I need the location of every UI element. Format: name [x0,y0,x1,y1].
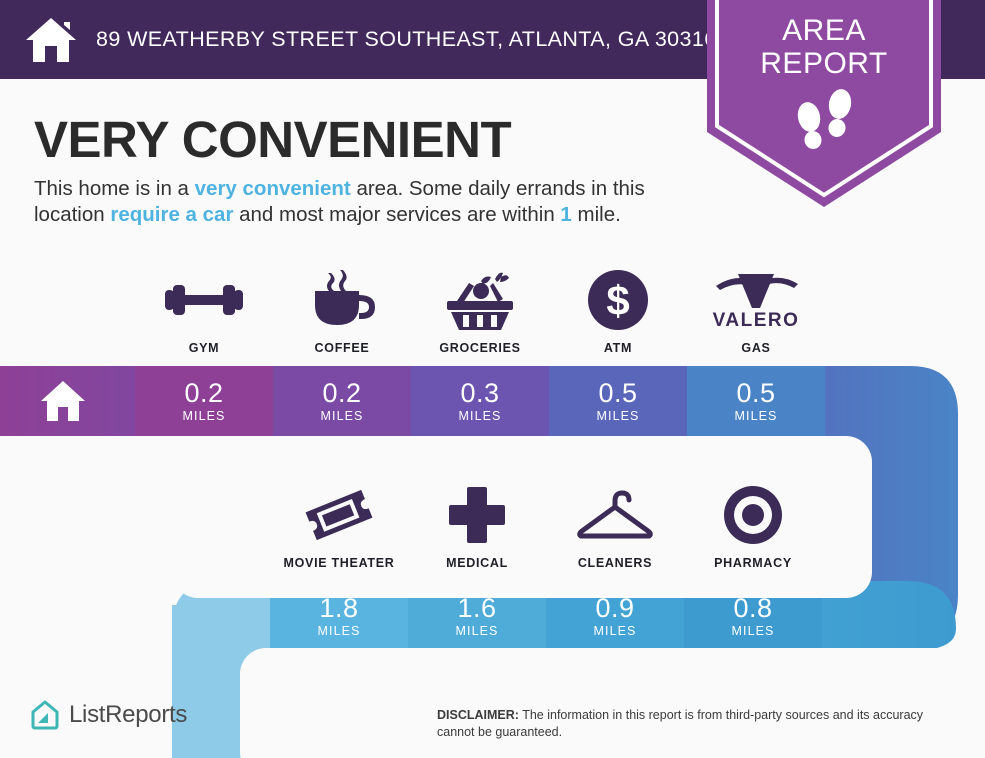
area-report-badge: AREA REPORT [707,0,941,207]
amenity-coffee[interactable]: COFFEE [273,255,411,355]
icon-row-amenities-near: GYM COFFEE [135,255,825,355]
amenity-label: GAS [741,341,770,355]
distance-cell-bg [411,366,549,436]
svg-text:$: $ [606,277,629,324]
amenity-label: ATM [604,341,632,355]
clothes-hanger-icon [574,482,656,548]
distance-cell-bg [135,366,273,436]
disclaimer-text: DISCLAIMER: The information in this repo… [437,707,957,741]
distance-cell-bg [687,366,825,436]
summary-highlight-convenient: very convenient [195,177,351,200]
summary-highlight-require-car: require a car [110,203,233,226]
coffee-cup-icon [307,267,377,333]
area-report-infographic: 89 WEATHERBY STREET SOUTHEAST, ATLANTA, … [0,0,985,758]
logo-text: ListReports [69,701,187,729]
dumbbell-icon [161,267,247,333]
summary-part-3: and most major services are within [233,203,560,226]
amenity-label: GYM [189,341,220,355]
disclaimer-label: DISCLAIMER: [437,708,519,722]
icon-row-amenities-far: MOVIE THEATER MEDICAL CLEANERS [270,470,822,570]
home-icon [40,380,86,422]
grocery-basket-icon [443,267,517,333]
amenity-label: MEDICAL [446,556,508,570]
listreports-logo[interactable]: ListReports [30,700,187,730]
bullseye-target-icon [722,482,784,548]
valero-logo-icon: VALERO [708,267,804,333]
movie-ticket-icon [301,482,377,548]
home-icon [24,16,78,64]
amenity-cleaners[interactable]: CLEANERS [546,470,684,570]
amenity-gym[interactable]: GYM [135,255,273,355]
summary-description: This home is in a very convenient area. … [34,176,714,228]
medical-cross-icon [447,482,507,548]
inset-footer [240,648,985,758]
amenity-label: GROCERIES [439,341,520,355]
amenity-medical[interactable]: MEDICAL [408,470,546,570]
amenity-label: MOVIE THEATER [284,556,395,570]
amenity-atm[interactable]: $ ATM [549,255,687,355]
listreports-house-tag-icon [30,700,60,730]
distance-cell-bg [273,366,411,436]
distance-cell-bg [549,366,687,436]
amenity-gas[interactable]: VALERO GAS [687,255,825,355]
dollar-circle-icon: $ [587,267,649,333]
badge-shape [707,0,941,207]
page-title: VERY CONVENIENT [34,110,511,170]
amenity-pharmacy[interactable]: PHARMACY [684,470,822,570]
summary-highlight-miles: 1 [560,203,571,226]
summary-part-1: This home is in a [34,177,195,200]
amenity-movie-theater[interactable]: MOVIE THEATER [270,470,408,570]
property-address: 89 WEATHERBY STREET SOUTHEAST, ATLANTA, … [96,27,717,52]
amenity-label: PHARMACY [714,556,792,570]
summary-part-4: mile. [572,203,621,226]
svg-text:VALERO: VALERO [713,310,800,330]
amenity-groceries[interactable]: GROCERIES [411,255,549,355]
amenity-label: COFFEE [315,341,370,355]
amenity-label: CLEANERS [578,556,652,570]
